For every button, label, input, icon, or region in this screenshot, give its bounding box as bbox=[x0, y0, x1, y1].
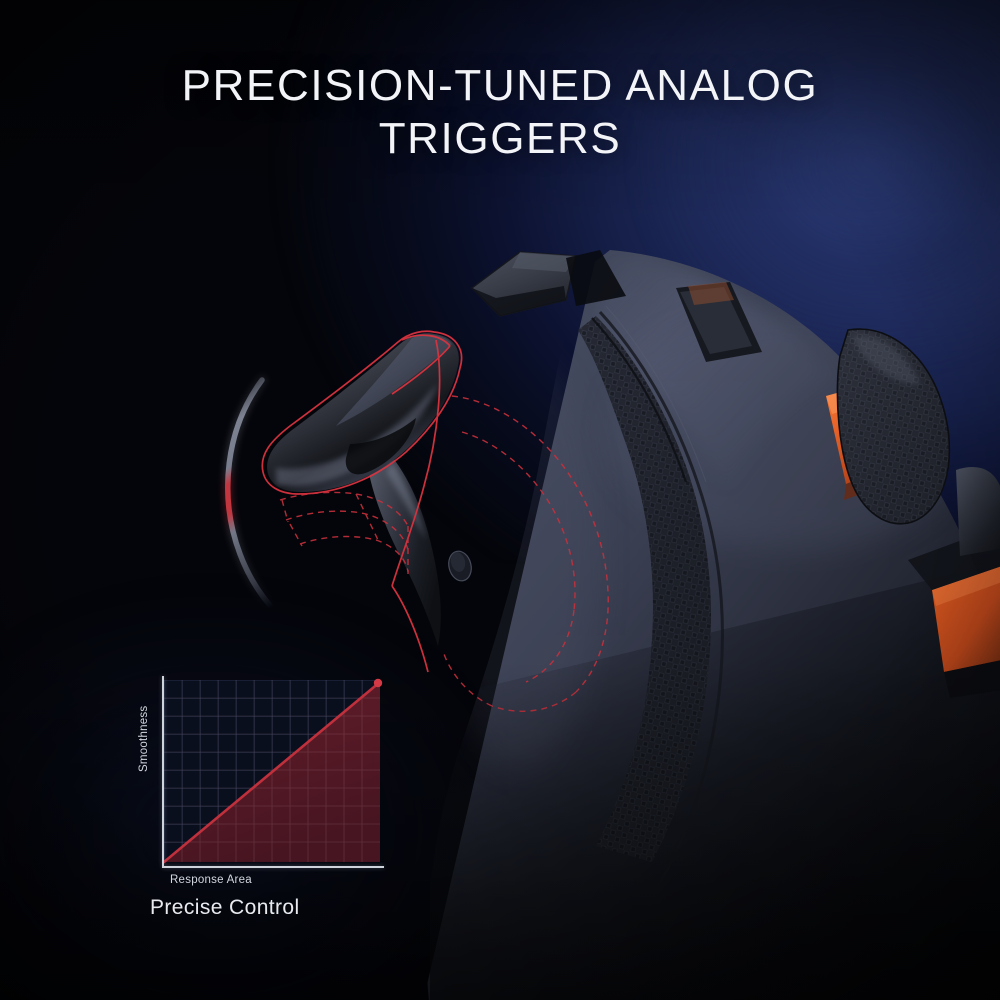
chart-x-axis-label: Response Area bbox=[170, 874, 252, 886]
headline-line-1: PRECISION-TUNED ANALOG bbox=[182, 61, 819, 110]
chart-y-axis-label: Smoothness bbox=[138, 706, 150, 772]
chart-title: Precise Control bbox=[150, 896, 300, 920]
chart-plot-area bbox=[164, 680, 380, 862]
chart-y-axis bbox=[162, 676, 164, 866]
precise-control-chart: Smoothness Response Area Precise Control bbox=[132, 668, 400, 926]
chart-end-marker bbox=[374, 679, 382, 687]
product-feature-banner: PRECISION-TUNED ANALOG TRIGGERS bbox=[0, 0, 1000, 1000]
page-title: PRECISION-TUNED ANALOG TRIGGERS bbox=[0, 60, 1000, 166]
chart-series bbox=[164, 680, 380, 862]
headline-line-2: TRIGGERS bbox=[0, 113, 1000, 166]
chart-x-axis bbox=[162, 866, 384, 868]
